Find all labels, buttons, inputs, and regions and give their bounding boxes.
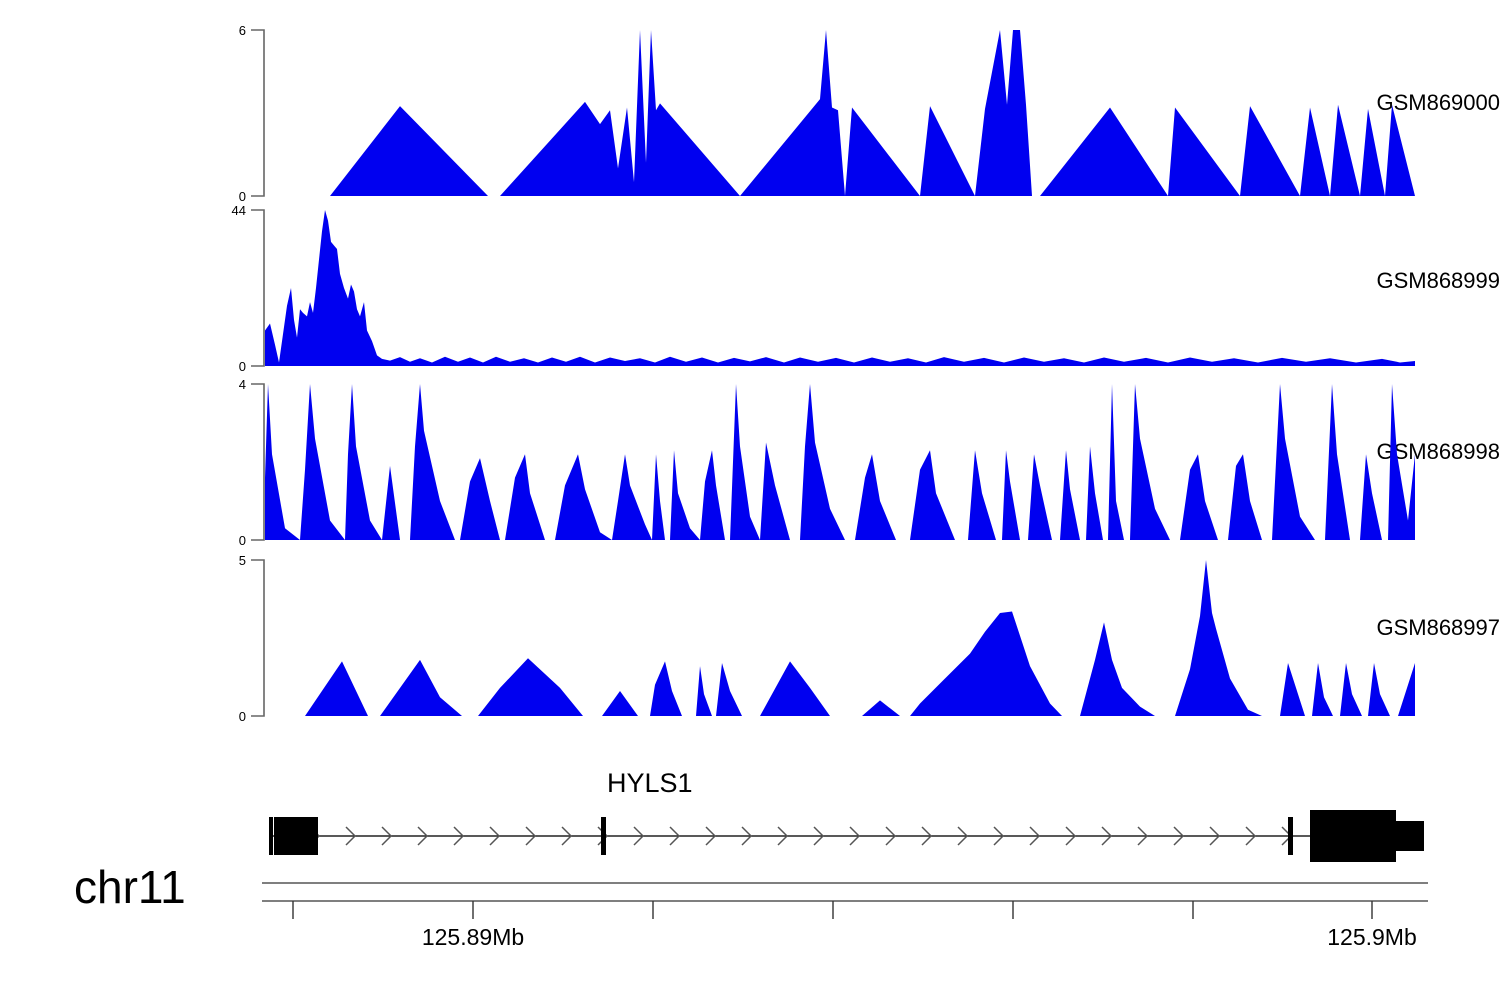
gene-annotation-track[interactable]: HYLS1: [0, 760, 1500, 880]
ruler-tick-label: 125.9Mb: [1327, 924, 1417, 950]
exon-block[interactable]: [1310, 810, 1396, 862]
gene-model-svg: [0, 760, 1500, 880]
genome-browser: GSM86900060GSM868999440GSM86899840GSM868…: [0, 0, 1500, 980]
signal-area: [265, 30, 1415, 196]
y-axis-min-label: 0: [239, 189, 246, 204]
utr-block[interactable]: [1394, 821, 1424, 851]
y-axis-bracket: [251, 30, 264, 196]
exon-block[interactable]: [1288, 817, 1293, 855]
y-axis-bracket: [251, 210, 264, 366]
ruler-tick-label: 125.89Mb: [422, 924, 524, 950]
signal-area: [265, 560, 1415, 716]
coordinate-ruler[interactable]: 125.89Mb125.9Mb: [0, 875, 1500, 985]
signal-area: [265, 384, 1415, 540]
y-axis-bracket: [251, 560, 264, 716]
signal-area: [265, 210, 1415, 366]
y-axis-max-label: 44: [232, 203, 246, 218]
y-axis-min-label: 0: [239, 533, 246, 548]
y-axis-min-label: 0: [239, 709, 246, 724]
y-axis-bracket: [251, 384, 264, 540]
y-axis-max-label: 4: [239, 377, 246, 392]
y-axis-min-label: 0: [239, 359, 246, 374]
track-label-GSM868997: GSM868997: [1265, 615, 1500, 641]
track-label-GSM868999: GSM868999: [1265, 268, 1500, 294]
gene-start-marker: [269, 817, 273, 855]
track-label-GSM869000: GSM869000: [1265, 90, 1500, 116]
y-axis-max-label: 6: [239, 23, 246, 38]
exon-block[interactable]: [601, 817, 606, 855]
y-axis-max-label: 5: [239, 553, 246, 568]
track-label-GSM868998: GSM868998: [1265, 439, 1500, 465]
exon-block[interactable]: [274, 817, 318, 855]
